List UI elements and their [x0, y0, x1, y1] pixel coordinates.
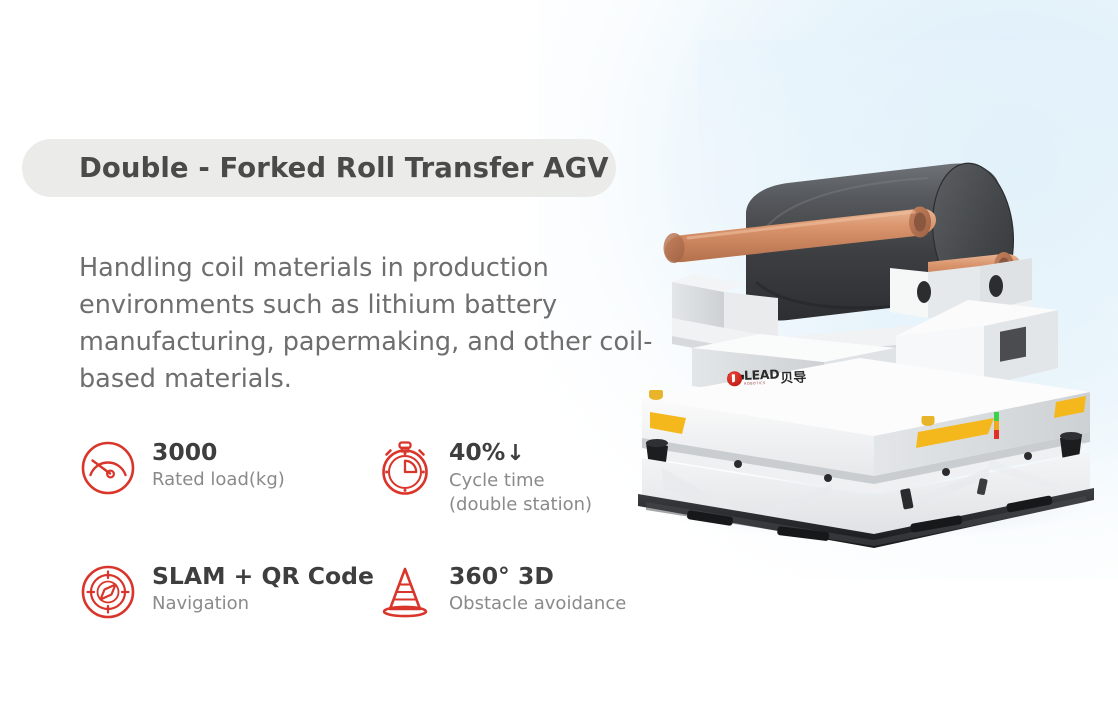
down-arrow-icon: ↓	[506, 440, 524, 467]
feature-item-rated-load: 3000 Rated load(kg)	[79, 437, 285, 497]
feature-value-number: 3000	[152, 439, 217, 466]
title-pill: Double - Forked Roll Transfer AGV	[22, 139, 616, 197]
logo-chinese-text: 贝导	[780, 366, 807, 386]
description-text: Handling coil materials in production en…	[79, 250, 659, 398]
feature-value-number: SLAM + QR Code	[152, 563, 374, 590]
feature-value: 360° 3D	[449, 563, 626, 590]
feature-label: Navigation	[152, 592, 374, 616]
brand-logo: LEAD ROBOTICS 贝导	[727, 366, 807, 388]
traffic-cone-icon	[376, 563, 434, 621]
page-title: Double - Forked Roll Transfer AGV	[79, 152, 609, 184]
product-slide: Double - Forked Roll Transfer AGV Handli…	[0, 0, 1118, 719]
feature-value: 3000	[152, 439, 285, 466]
feature-text: SLAM + QR Code Navigation	[152, 561, 374, 616]
feature-value-number: 40%	[449, 439, 505, 466]
feature-text: 40% ↓ Cycle time (double station)	[449, 437, 592, 517]
feature-text: 3000 Rated load(kg)	[152, 437, 285, 492]
feature-label: Cycle time	[449, 469, 592, 493]
feature-text: 360° 3D Obstacle avoidance	[449, 561, 626, 616]
stopwatch-icon	[376, 439, 434, 497]
status-light-green	[994, 412, 999, 421]
feature-value-number: 360° 3D	[449, 563, 554, 590]
gauge-icon	[79, 439, 137, 497]
feature-item-navigation: SLAM + QR Code Navigation	[79, 561, 374, 621]
feature-label: Rated load(kg)	[152, 468, 285, 492]
status-light-red	[994, 430, 999, 439]
feature-item-obstacle-avoidance: 360° 3D Obstacle avoidance	[376, 561, 626, 621]
product-image-agv	[628, 86, 1108, 556]
lead-logo-mark-icon	[727, 371, 743, 387]
status-light-amber	[994, 421, 999, 430]
logo-wordmark: LEAD ROBOTICS	[744, 369, 780, 387]
feature-value: SLAM + QR Code	[152, 563, 374, 590]
feature-label: Obstacle avoidance	[449, 592, 626, 616]
feature-label-secondary: (double station)	[449, 493, 592, 517]
feature-value: 40% ↓	[449, 439, 592, 467]
feature-item-cycle-time: 40% ↓ Cycle time (double station)	[376, 437, 592, 517]
logo-subtitle-text: ROBOTICS	[744, 382, 779, 387]
compass-icon	[79, 563, 137, 621]
lidar-window	[1000, 327, 1026, 362]
